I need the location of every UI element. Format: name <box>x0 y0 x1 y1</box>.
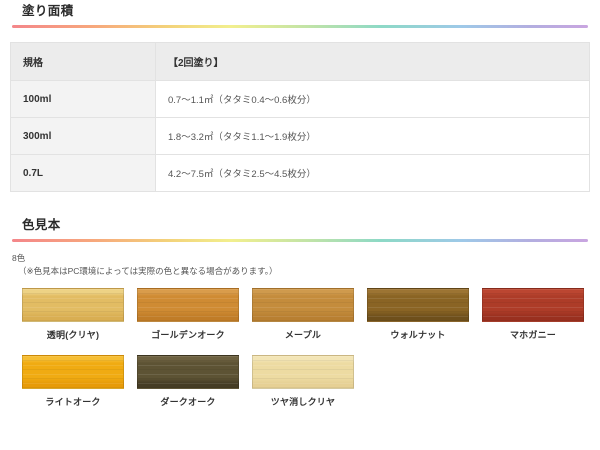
table-row: 300ml 1.8〜3.2㎡（タタミ1.1〜1.9枚分） <box>11 118 590 155</box>
section-coverage: 塗り面積 <box>0 0 600 28</box>
wood-grain-texture <box>23 356 123 388</box>
column-header-spec: 規格 <box>11 43 156 81</box>
row-header-spec: 0.7L <box>11 155 156 192</box>
rainbow-divider-coverage <box>12 25 588 28</box>
color-swatch-item[interactable]: ゴールデンオーク <box>133 288 243 341</box>
wood-grain-texture <box>138 356 238 388</box>
color-swatch-item[interactable]: メープル <box>248 288 358 341</box>
wood-grain-texture <box>253 289 353 321</box>
color-swatch-label: ライトオーク <box>18 395 128 408</box>
color-chip-matte-clear[interactable] <box>252 355 354 389</box>
page-root: 塗り面積 規格 【2回塗り】 100ml 0.7〜1.1㎡（タタミ0.4〜0.6… <box>0 0 600 450</box>
color-chip-maple[interactable] <box>252 288 354 322</box>
color-samples-section-title: 色見本 <box>12 214 588 239</box>
row-header-spec: 300ml <box>11 118 156 155</box>
coverage-table-body: 100ml 0.7〜1.1㎡（タタミ0.4〜0.6枚分） 300ml 1.8〜3… <box>11 81 590 192</box>
color-swatch-label: ツヤ消しクリヤ <box>248 395 358 408</box>
color-chip-walnut[interactable] <box>367 288 469 322</box>
color-swatch-label: ゴールデンオーク <box>133 328 243 341</box>
coverage-table-wrapper: 規格 【2回塗り】 100ml 0.7〜1.1㎡（タタミ0.4〜0.6枚分） 3… <box>10 42 590 192</box>
color-disclaimer-note: （※色見本はPC環境によっては実際の色と異なる場合があります。） <box>12 265 590 278</box>
color-swatch-item[interactable]: マホガニー <box>478 288 588 341</box>
row-cell-coverage: 1.8〜3.2㎡（タタミ1.1〜1.9枚分） <box>156 118 590 155</box>
color-swatch-item[interactable]: ツヤ消しクリヤ <box>248 355 358 408</box>
color-swatch-grid: 透明(クリヤ) ゴールデンオーク メープル ウォルナット マホガニー <box>0 288 600 408</box>
color-count-label: 8色 <box>12 252 590 265</box>
wood-grain-texture <box>368 289 468 321</box>
color-swatch-label: メープル <box>248 328 358 341</box>
table-row: 0.7L 4.2〜7.5㎡（タタミ2.5〜4.5枚分） <box>11 155 590 192</box>
color-samples-caption: 8色 （※色見本はPC環境によっては実際の色と異なる場合があります。） <box>12 252 590 278</box>
table-row: 100ml 0.7〜1.1㎡（タタミ0.4〜0.6枚分） <box>11 81 590 118</box>
wood-grain-texture <box>138 289 238 321</box>
color-chip-dark-oak[interactable] <box>137 355 239 389</box>
coverage-table-head: 規格 【2回塗り】 <box>11 43 590 81</box>
wood-grain-texture <box>23 289 123 321</box>
row-header-spec: 100ml <box>11 81 156 118</box>
wood-grain-texture <box>483 289 583 321</box>
coverage-section-title: 塗り面積 <box>12 0 588 25</box>
color-chip-clear[interactable] <box>22 288 124 322</box>
color-swatch-label: ウォルナット <box>363 328 473 341</box>
row-cell-coverage: 0.7〜1.1㎡（タタミ0.4〜0.6枚分） <box>156 81 590 118</box>
color-swatch-item[interactable]: ウォルナット <box>363 288 473 341</box>
color-swatch-label: ダークオーク <box>133 395 243 408</box>
color-swatch-item[interactable]: ダークオーク <box>133 355 243 408</box>
coverage-table: 規格 【2回塗り】 100ml 0.7〜1.1㎡（タタミ0.4〜0.6枚分） 3… <box>10 42 590 192</box>
color-chip-golden-oak[interactable] <box>137 288 239 322</box>
color-chip-mahogany[interactable] <box>482 288 584 322</box>
table-header-row: 規格 【2回塗り】 <box>11 43 590 81</box>
wood-grain-texture <box>253 356 353 388</box>
color-chip-light-oak[interactable] <box>22 355 124 389</box>
color-swatch-row-1: 透明(クリヤ) ゴールデンオーク メープル ウォルナット マホガニー <box>0 288 600 341</box>
section-color-samples: 色見本 <box>0 214 600 242</box>
rainbow-divider-color-samples <box>12 239 588 242</box>
color-swatch-item[interactable]: ライトオーク <box>18 355 128 408</box>
row-cell-coverage: 4.2〜7.5㎡（タタミ2.5〜4.5枚分） <box>156 155 590 192</box>
color-swatch-row-2: ライトオーク ダークオーク ツヤ消しクリヤ <box>0 355 600 408</box>
color-swatch-label: 透明(クリヤ) <box>18 328 128 341</box>
color-swatch-item[interactable]: 透明(クリヤ) <box>18 288 128 341</box>
column-header-coverage: 【2回塗り】 <box>156 43 590 81</box>
color-swatch-label: マホガニー <box>478 328 588 341</box>
